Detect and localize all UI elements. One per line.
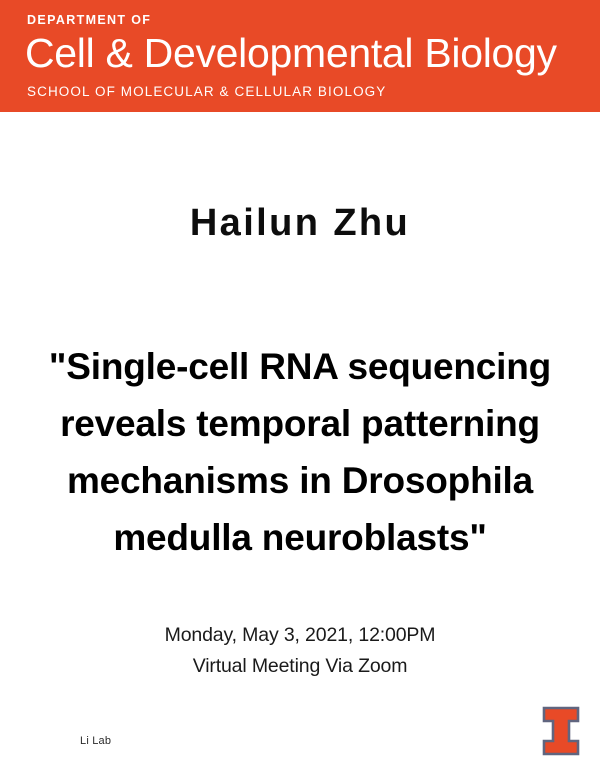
banner-eyebrow: DEPARTMENT OF — [27, 14, 151, 27]
talk-title: "Single-cell RNA sequencing reveals temp… — [20, 338, 580, 566]
talk-title-line: "Single-cell RNA sequencing — [20, 338, 580, 395]
banner-department-title: Cell & Developmental Biology — [25, 31, 557, 77]
speaker-name: Hailun Zhu — [0, 203, 600, 245]
talk-title-line: mechanisms in Drosophila — [20, 452, 580, 509]
banner-school-subtitle: SCHOOL OF MOLECULAR & CELLULAR BIOLOGY — [27, 85, 386, 99]
department-banner: DEPARTMENT OF Cell & Developmental Biolo… — [0, 0, 600, 112]
event-location: Virtual Meeting Via Zoom — [0, 651, 600, 682]
event-datetime: Monday, May 3, 2021, 12:00PM — [0, 620, 600, 651]
seminar-flyer: { "colors": { "banner_orange": "#e84a27"… — [0, 0, 600, 777]
talk-title-line: reveals temporal patterning — [20, 395, 580, 452]
lab-label: Li Lab — [80, 736, 111, 747]
university-of-illinois-block-i-icon — [541, 706, 581, 756]
talk-title-line: medulla neuroblasts" — [20, 509, 580, 566]
event-details: Monday, May 3, 2021, 12:00PM Virtual Mee… — [0, 620, 600, 682]
